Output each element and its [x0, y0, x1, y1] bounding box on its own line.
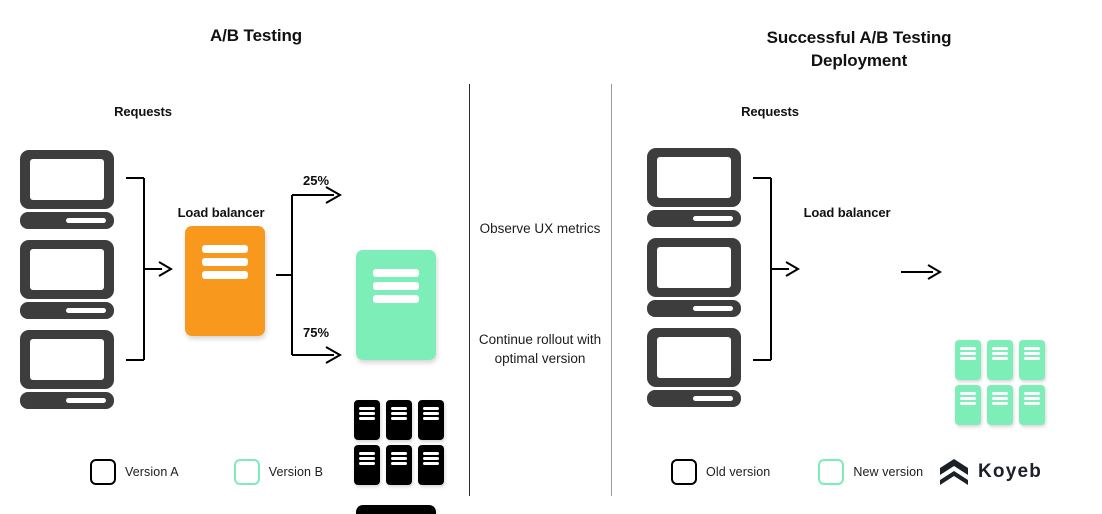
legend-item-version-a: Version A [90, 459, 179, 485]
instance-box [1019, 385, 1045, 425]
monitor-icon [18, 238, 122, 320]
right-legend: Old version New version [671, 459, 923, 485]
legend-item-version-b: Version B [234, 459, 323, 485]
bar [373, 269, 419, 277]
bar [373, 282, 419, 290]
monitor-icon [645, 146, 749, 228]
instance-box [987, 340, 1013, 380]
bar [202, 245, 248, 253]
bar [202, 258, 248, 266]
legend-label-version-a: Version A [125, 465, 179, 479]
legend-swatch-version-a [90, 459, 116, 485]
left-split-25-label: 25% [303, 173, 329, 188]
legend-swatch-old-version [671, 459, 697, 485]
center-note-continue-rollout: Continue rollout with optimal version [465, 330, 615, 368]
bar [202, 271, 248, 279]
instance-box [987, 385, 1013, 425]
koyeb-brand-name: Koyeb [978, 461, 1042, 483]
legend-swatch-new-version [818, 459, 844, 485]
monitor-icon [645, 326, 749, 408]
right-client-monitor-3 [645, 326, 749, 408]
legend-label-old-version: Old version [706, 465, 770, 479]
left-version-b-box [356, 250, 436, 360]
instance-box [354, 445, 380, 485]
right-load-balancer-label: Load balancer [786, 205, 908, 220]
koyeb-chevron-logo-icon [938, 456, 970, 488]
right-divider-rule [611, 84, 612, 496]
legend-item-new-version: New version [818, 459, 923, 485]
left-divider-rule [469, 84, 470, 496]
left-panel-title: A/B Testing [151, 24, 361, 47]
center-note-observe-ux: Observe UX metrics [465, 219, 615, 238]
left-load-balancer-label: Load balancer [160, 205, 282, 220]
monitor-icon [18, 148, 122, 230]
monitor-icon [18, 328, 122, 410]
koyeb-brand: Koyeb [938, 456, 1042, 488]
instance-box [955, 340, 981, 380]
instance-box [418, 445, 444, 485]
right-panel-title: Successful A/B Testing Deployment [739, 26, 979, 72]
service-box-bars [185, 245, 265, 279]
left-clients-to-lb-connector [126, 176, 176, 362]
right-client-monitor-2 [645, 236, 749, 318]
right-clients-to-lb-connector [753, 176, 803, 362]
monitor-icon [645, 236, 749, 318]
diagram-canvas: A/B Testing Requests Load balancer [0, 0, 1102, 514]
instance-box [354, 400, 380, 440]
right-client-monitor-1 [645, 146, 749, 228]
left-version-a-instance-grid [354, 400, 444, 485]
legend-swatch-version-b [234, 459, 260, 485]
left-requests-label: Requests [83, 104, 203, 119]
right-requests-label: Requests [710, 104, 830, 119]
right-lb-to-service-arrow [901, 262, 943, 282]
legend-item-old-version: Old version [671, 459, 770, 485]
left-client-monitor-2 [18, 238, 122, 320]
instance-box [1019, 340, 1045, 380]
left-load-balancer-box [185, 226, 265, 336]
service-box-bars [356, 269, 436, 303]
right-new-version-instance-grid [955, 340, 1045, 425]
instance-box [386, 445, 412, 485]
bar [373, 295, 419, 303]
left-client-monitor-3 [18, 328, 122, 410]
instance-box [386, 400, 412, 440]
left-legend: Version A Version B [90, 459, 323, 485]
left-client-monitor-1 [18, 148, 122, 230]
left-split-75-label: 75% [303, 325, 329, 340]
instance-box [418, 400, 444, 440]
left-version-a-box [356, 505, 436, 514]
instance-box [955, 385, 981, 425]
legend-label-new-version: New version [853, 465, 923, 479]
legend-label-version-b: Version B [269, 465, 323, 479]
